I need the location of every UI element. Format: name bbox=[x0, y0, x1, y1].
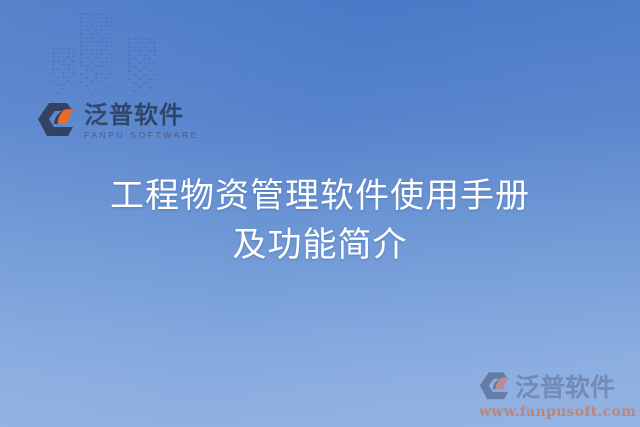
title-slide: 泛普软件 FANPU SOFTWARE 工程物资管理软件使用手册 及功能简介 泛… bbox=[0, 0, 640, 427]
brand-logo-text: 泛普软件 FANPU SOFTWARE bbox=[84, 103, 199, 140]
dot-matrix-cityscape-icon bbox=[50, 8, 165, 98]
title-line-1: 工程物资管理软件使用手册 bbox=[0, 172, 640, 221]
watermark: 泛普软件 www.fanpusoft.com bbox=[479, 370, 634, 419]
brand-name-en: FANPU SOFTWARE bbox=[84, 131, 199, 140]
brand-name-cn: 泛普软件 bbox=[84, 103, 199, 127]
watermark-name-cn: 泛普软件 bbox=[515, 375, 615, 400]
title-line-2: 及功能简介 bbox=[0, 221, 640, 270]
brand-logo: 泛普软件 FANPU SOFTWARE bbox=[37, 96, 199, 146]
watermark-url: www.fanpusoft.com bbox=[479, 405, 634, 419]
fanpu-logo-mark-icon bbox=[37, 100, 79, 142]
fanpu-watermark-mark-icon bbox=[479, 370, 513, 404]
watermark-logo-row: 泛普软件 bbox=[479, 370, 634, 404]
slide-title: 工程物资管理软件使用手册 及功能简介 bbox=[0, 172, 640, 271]
